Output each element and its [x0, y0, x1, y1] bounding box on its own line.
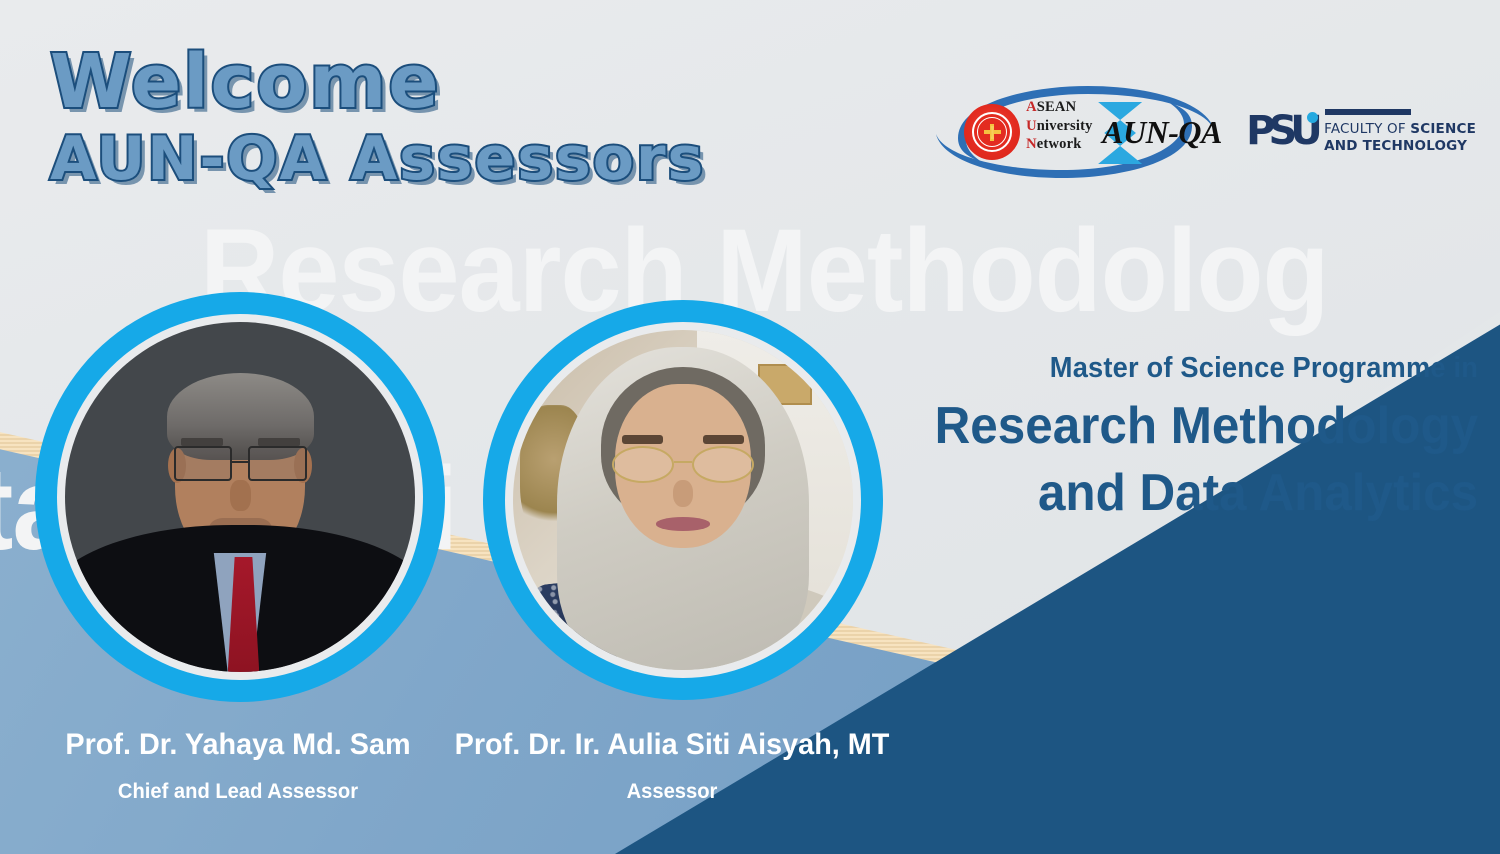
aun-text-line-3: Network: [1026, 135, 1092, 154]
psu-dot-icon: [1307, 112, 1318, 123]
photo2-lens-left: [612, 446, 675, 483]
asean-emblem-icon: [964, 104, 1020, 160]
avatar-aulia-siti-aisyah: [483, 300, 883, 700]
psu-faculty-text: FACULTY OF SCIENCE AND TECHNOLOGY: [1320, 109, 1476, 155]
assessor-2-role: Assessor: [442, 780, 903, 804]
psu-faculty-line-1: FACULTY OF SCIENCE: [1324, 121, 1476, 138]
avatar-photo-1: [65, 322, 415, 672]
page-title: Welcome AUN-QA Assessors: [50, 45, 705, 189]
asean-emblem-ring-2: [977, 117, 1007, 147]
assessor-1-caption: Prof. Dr. Yahaya Md. Sam Chief and Lead …: [38, 728, 438, 804]
photo-woman-with-hijab: [513, 330, 853, 670]
programme-title-line-1: Research Methodology: [934, 393, 1478, 460]
photo-man-in-suit: [65, 322, 415, 672]
assessor-2-caption: Prof. Dr. Ir. Aulia Siti Aisyah, MT Asse…: [432, 728, 912, 804]
programme-title-block: Master of Science Programme in Research …: [906, 352, 1478, 526]
photo1-lens-right: [248, 446, 307, 481]
photo2-lips: [656, 517, 710, 531]
psu-monogram-icon: PSU: [1246, 110, 1308, 154]
photo2-glasses-bridge: [674, 461, 691, 463]
logo-group: ASEAN University Network AUN-QA PSU FACU…: [930, 82, 1476, 182]
programme-title-line-2: and Data Analytics: [934, 460, 1478, 527]
photo2-nose: [673, 480, 693, 507]
photo2-brow-left: [622, 435, 663, 443]
aun-text-line-2: University: [1026, 117, 1092, 136]
photo1-glasses-icon: [174, 446, 307, 481]
photo1-brow-left: [181, 438, 223, 447]
assessor-2-name: Prof. Dr. Ir. Aulia Siti Aisyah, MT: [442, 728, 903, 762]
assessor-1-role: Chief and Lead Assessor: [46, 780, 430, 804]
asean-rice-stalks-icon: [984, 124, 1001, 141]
aun-qa-logo: ASEAN University Network AUN-QA: [930, 82, 1220, 182]
psu-logo: PSU FACULTY OF SCIENCE AND TECHNOLOGY: [1246, 109, 1476, 155]
aun-qa-wordmark: AUN-QA: [1102, 114, 1222, 151]
asean-emblem-ring-1: [972, 112, 1012, 152]
slide-canvas: Research Methodolog ta Analyti Welcome A…: [0, 0, 1500, 854]
page-title-line-1: Welcome: [50, 45, 705, 119]
photo2-brow-right: [703, 435, 744, 443]
assessor-1-name: Prof. Dr. Yahaya Md. Sam: [46, 728, 430, 762]
photo1-nose: [230, 480, 251, 512]
avatar-yahaya-md-sam: [35, 292, 445, 702]
avatar-photo-2: [513, 330, 853, 670]
photo1-glasses-bridge: [232, 461, 248, 463]
psu-monogram-text: PSU: [1246, 110, 1308, 152]
psu-faculty-line-2: AND TECHNOLOGY: [1324, 138, 1476, 155]
page-title-line-2: AUN-QA Assessors: [50, 129, 705, 189]
photo1-lens-left: [174, 446, 233, 481]
programme-prefix: Master of Science Programme in: [940, 352, 1478, 385]
psu-divider-bar: [1325, 109, 1411, 115]
aun-text-line-1: ASEAN: [1026, 98, 1092, 117]
asean-university-network-text: ASEAN University Network: [1026, 98, 1092, 154]
photo2-lens-right: [692, 446, 755, 483]
photo1-brow-right: [258, 438, 300, 447]
photo2-glasses-icon: [612, 446, 755, 483]
